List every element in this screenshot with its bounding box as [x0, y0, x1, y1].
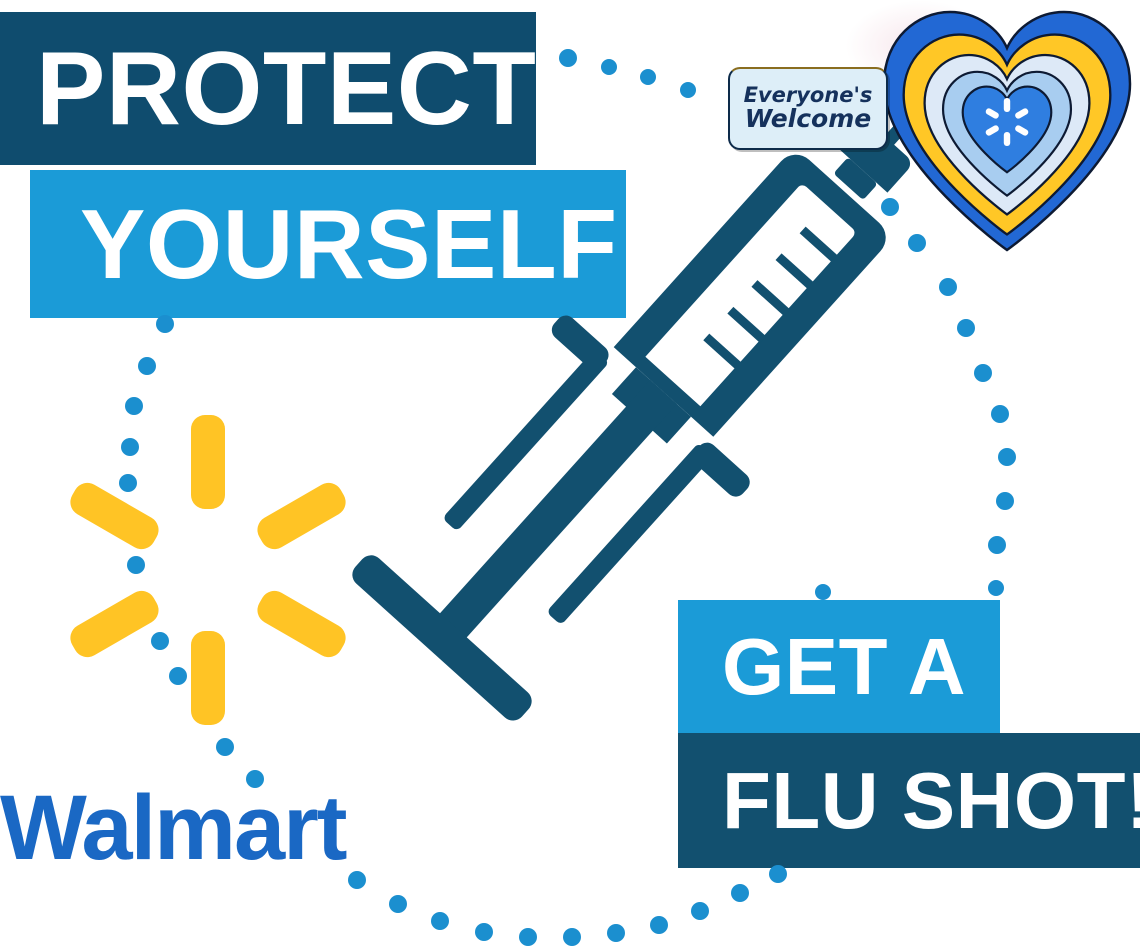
badge-line-2: Welcome: [745, 106, 872, 132]
walmart-heart-icon: [878, 4, 1136, 254]
flu-shot-poster: PROTECT YOURSELF: [0, 0, 1140, 949]
everyones-welcome-badge: Everyone's Welcome: [728, 67, 888, 150]
badge-line-1: Everyone's: [744, 84, 873, 106]
